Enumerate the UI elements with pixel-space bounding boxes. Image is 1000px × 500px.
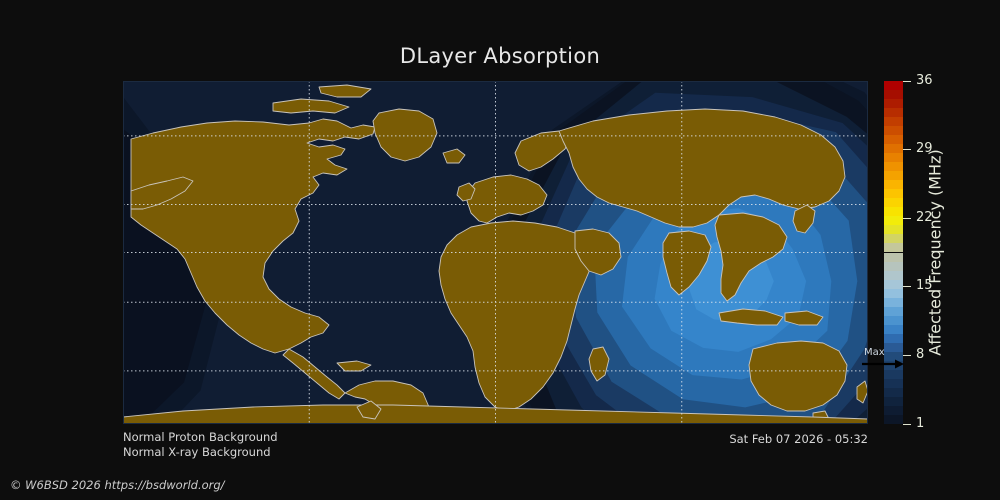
colorbar-band: [884, 343, 903, 352]
colorbar-band: [884, 352, 903, 361]
colorbar-band: [884, 361, 903, 370]
colorbar-band: [884, 180, 903, 189]
credit-line: © W6BSD 2026 https://bsdworld.org/: [10, 478, 225, 492]
colorbar-band: [884, 379, 903, 388]
colorbar-axis-label-text: Affected Frequency (MHz): [926, 149, 945, 355]
colorbar-band: [884, 334, 903, 343]
colorbar-band: [884, 108, 903, 117]
note-proton-background: Normal Proton Background: [123, 430, 523, 445]
colorbar-axis-label: Affected Frequency (MHz): [922, 81, 948, 424]
colorbar-band: [884, 325, 903, 334]
colorbar-band: [884, 289, 903, 298]
colorbar-band: [884, 99, 903, 108]
colorbar-tick-dash: [903, 286, 911, 287]
colorbar-band: [884, 262, 903, 271]
colorbar-band: [884, 280, 903, 289]
colorbar-tick-dash: [903, 149, 911, 150]
colorbar-band: [884, 207, 903, 216]
colorbar-band: [884, 388, 903, 397]
colorbar-band: [884, 153, 903, 162]
colorbar-band: [884, 126, 903, 135]
colorbar-band: [884, 225, 903, 234]
colorbar-band: [884, 397, 903, 406]
colorbar-tick-dash: [903, 218, 911, 219]
colorbar-band: [884, 189, 903, 198]
colorbar-band: [884, 370, 903, 379]
status-notes: Normal Proton Background Normal X-ray Ba…: [123, 430, 523, 460]
colorbar-band: [884, 307, 903, 316]
colorbar-band: [884, 162, 903, 171]
colorbar-band: [884, 243, 903, 252]
colorbar-band: [884, 406, 903, 415]
colorbar[interactable]: [884, 81, 903, 424]
note-xray-background: Normal X-ray Background: [123, 445, 523, 460]
colorbar-tick-dash: [903, 81, 911, 82]
map-svg: [123, 81, 868, 424]
colorbar-band: [884, 234, 903, 243]
colorbar-band: [884, 216, 903, 225]
colorbar-band: [884, 117, 903, 126]
colorbar-band: [884, 171, 903, 180]
colorbar-tick-dash: [903, 424, 911, 425]
colorbar-band: [884, 144, 903, 153]
colorbar-band: [884, 271, 903, 280]
colorbar-band: [884, 90, 903, 99]
colorbar-band: [884, 298, 903, 307]
colorbar-band: [884, 81, 903, 90]
world-map[interactable]: [123, 81, 868, 424]
colorbar-band: [884, 415, 903, 424]
colorbar-band: [884, 135, 903, 144]
colorbar-band: [884, 253, 903, 262]
colorbar-band: [884, 198, 903, 207]
colorbar-band: [884, 316, 903, 325]
colorbar-tick-dash: [903, 355, 911, 356]
timestamp: Sat Feb 07 2026 - 05:32: [565, 432, 868, 446]
page-title: DLayer Absorption: [0, 44, 1000, 68]
